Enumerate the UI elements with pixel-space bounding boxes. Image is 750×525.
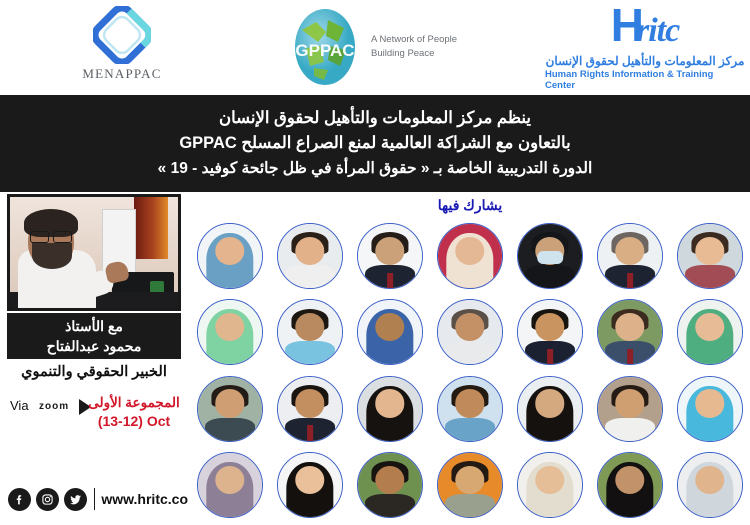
participant-avatar	[437, 376, 503, 442]
participant-avatar	[277, 452, 343, 518]
poster-root: MENAPPAC GPPAC	[0, 0, 750, 525]
speaker-name-line-2: محمود عبدالفتاح	[47, 336, 142, 356]
delivery-row: Via zoom المجموعة الأولى (13-12) Oct	[0, 392, 188, 444]
speaker-sidebar: مع الأستاذ محمود عبدالفتاح الخبير الحقوق…	[0, 192, 188, 525]
hritc-logo: H ritc مركز المعلومات والتأهيل لحقوق الإ…	[545, 4, 745, 92]
logo-strip: MENAPPAC GPPAC	[0, 0, 750, 95]
participant-avatar	[197, 223, 263, 289]
participant-avatar	[197, 452, 263, 518]
speaker-role: الخبير الحقوقي والتنموي	[0, 364, 188, 380]
participant-avatar	[437, 452, 503, 518]
participant-avatar	[597, 452, 663, 518]
website-link[interactable]: www.hritc.co	[101, 491, 188, 507]
speaker-name-plate: مع الأستاذ محمود عبدالفتاح	[7, 313, 181, 359]
twitter-icon[interactable]	[64, 488, 87, 511]
participant-avatar	[597, 223, 663, 289]
participant-avatar	[677, 376, 743, 442]
svg-text:GPPAC: GPPAC	[295, 41, 354, 60]
title-line-2: بالتعاون مع الشراكة العالمية لمنع الصراع…	[179, 131, 570, 156]
participant-avatar	[677, 223, 743, 289]
group-label: المجموعة الأولى	[88, 394, 180, 412]
menappac-wordmark: MENAPPAC	[82, 66, 161, 82]
participant-avatar	[597, 376, 663, 442]
group-date: (13-12) Oct	[88, 412, 180, 431]
participant-avatar	[357, 376, 423, 442]
group-block: المجموعة الأولى (13-12) Oct	[88, 394, 180, 431]
participant-avatar	[277, 376, 343, 442]
title-band: ينظم مركز المعلومات والتأهيل لحقوق الإنس…	[0, 95, 750, 192]
divider	[94, 488, 95, 510]
hritc-rest: ritc	[636, 11, 679, 51]
social-row: www.hritc.co	[0, 482, 188, 516]
instagram-icon[interactable]	[36, 488, 59, 511]
participant-avatar	[597, 299, 663, 365]
via-label: Via	[10, 398, 29, 413]
participant-avatar	[517, 223, 583, 289]
via-block: Via zoom	[10, 396, 94, 414]
participant-avatar	[277, 223, 343, 289]
participant-avatar	[517, 452, 583, 518]
participant-avatar	[677, 452, 743, 518]
title-line-3: الدورة التدريبية الخاصة بـ « حقوق المرأة…	[158, 156, 593, 181]
hritc-english-name: Human Rights Information & Training Cent…	[545, 69, 745, 91]
participant-avatar	[357, 452, 423, 518]
menappac-logo: MENAPPAC	[62, 6, 182, 90]
speaker-photo	[10, 197, 178, 308]
hritc-wordmark: H ritc	[611, 5, 679, 51]
participant-avatar	[517, 376, 583, 442]
participant-avatar	[437, 299, 503, 365]
participant-avatar	[357, 299, 423, 365]
speaker-photo-frame	[7, 194, 181, 311]
participant-avatar	[197, 376, 263, 442]
facebook-icon[interactable]	[8, 488, 31, 511]
speaker-name-line-1: مع الأستاذ	[65, 316, 123, 336]
participants-subhead: يشارك فيها	[190, 192, 750, 218]
zoom-wordmark: zoom	[39, 401, 69, 412]
participant-avatar	[517, 299, 583, 365]
hritc-arabic-name: مركز المعلومات والتأهيل لحقوق الإنسان	[546, 54, 745, 68]
participant-avatar	[197, 299, 263, 365]
participant-avatar	[277, 299, 343, 365]
gppac-tagline: A Network of People Building Peace	[371, 33, 457, 61]
participant-avatar	[677, 299, 743, 365]
menappac-mark-icon	[93, 6, 151, 64]
title-line-1: ينظم مركز المعلومات والتأهيل لحقوق الإنس…	[219, 106, 531, 131]
participants-grid	[190, 218, 750, 523]
participant-avatar	[437, 223, 503, 289]
zoom-logo: zoom	[39, 396, 69, 414]
globe-icon: GPPAC	[288, 8, 362, 86]
gppac-logo: GPPAC A Network of People Building Peace	[288, 6, 478, 88]
participant-avatar	[357, 223, 423, 289]
